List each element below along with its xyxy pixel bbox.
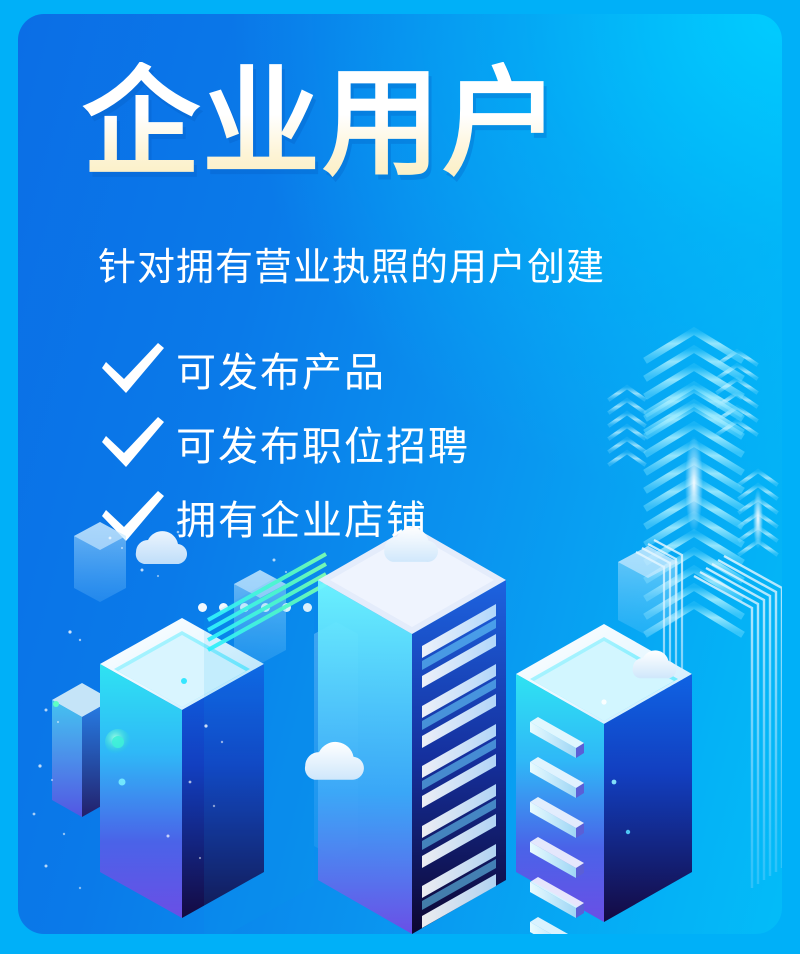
page-subtitle: 针对拥有营业执照的用户创建 — [98, 246, 605, 292]
check-icon — [96, 415, 170, 471]
dot — [303, 603, 312, 612]
hatch-lines-left — [316, 632, 341, 863]
chevron-stack-large — [648, 331, 740, 633]
feature-label: 拥有企业店铺 — [176, 488, 428, 546]
ellipsis-dots — [198, 603, 312, 612]
feature-label: 可发布职位招聘 — [176, 414, 470, 472]
tower-centre-striped — [204, 526, 506, 934]
cloud-icon — [305, 742, 364, 780]
window-bands — [422, 604, 496, 928]
chevron-stack-small-left — [610, 387, 644, 464]
feature-item: 可发布产品 — [96, 332, 470, 406]
dot — [198, 603, 207, 612]
check-icon — [96, 341, 170, 397]
tower-small-left — [52, 683, 112, 817]
tower-right-slots — [516, 624, 692, 934]
feature-list: 可发布产品 可发布职位招聘 拥有企业店铺 — [96, 332, 470, 554]
window-bands-alt — [422, 619, 496, 910]
slot-windows — [530, 717, 584, 934]
cloud-icon — [633, 650, 677, 678]
dot — [261, 603, 270, 612]
card-panel: 企业用户 针对拥有营业执照的用户创建 可发布产品 可发布职位招聘 — [18, 14, 782, 934]
dot — [240, 603, 249, 612]
sparkles — [33, 531, 288, 889]
tower-left-main — [100, 618, 264, 918]
feature-label: 可发布产品 — [176, 340, 386, 398]
feature-item: 可发布职位招聘 — [96, 406, 470, 480]
hatch-lines-right — [694, 556, 782, 888]
hatch-lines-mid — [570, 622, 600, 892]
city-illustration — [18, 514, 782, 934]
dot — [219, 603, 228, 612]
dot — [282, 603, 291, 612]
chevron-stack-small-lower — [740, 471, 776, 554]
ghost-blocks — [74, 522, 678, 858]
page-title: 企业用户 — [82, 62, 562, 187]
check-icon — [96, 489, 170, 545]
feature-item: 拥有企业店铺 — [96, 480, 470, 554]
hatch-lines-right-far — [636, 540, 682, 867]
chevron-stack-small-right — [718, 351, 756, 434]
enterprise-user-card: 企业用户 针对拥有营业执照的用户创建 可发布产品 可发布职位招聘 — [0, 0, 800, 954]
